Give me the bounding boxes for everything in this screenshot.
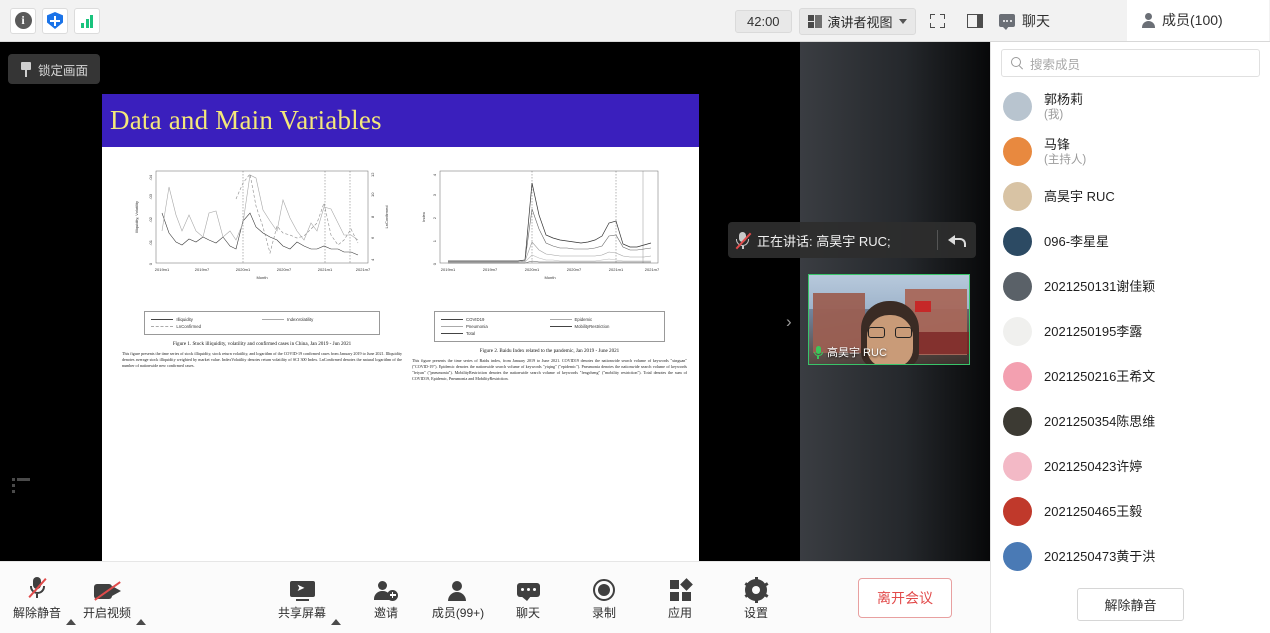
member-name: 高昊宇 RUC bbox=[1044, 189, 1115, 205]
svg-text:2020m7: 2020m7 bbox=[567, 267, 582, 272]
svg-text:Month: Month bbox=[256, 275, 267, 280]
chevron-down-icon bbox=[899, 19, 907, 24]
settings-gear-icon bbox=[745, 579, 767, 601]
avatar bbox=[1003, 92, 1032, 121]
svg-text:.01: .01 bbox=[148, 239, 153, 245]
member-name: 2021250195李露 bbox=[1044, 324, 1142, 340]
svg-text:2020m1: 2020m1 bbox=[525, 267, 540, 272]
slide-body: 0 .01 .02 .03 .04 Illiquidity, Volatilit… bbox=[102, 147, 699, 586]
list-item[interactable]: 096-李星星 bbox=[991, 219, 1270, 264]
list-item[interactable]: 郭杨莉 (我) bbox=[991, 84, 1270, 129]
chat-label: 聊天 bbox=[516, 604, 540, 621]
unmute-button[interactable]: 解除静音 bbox=[10, 575, 64, 621]
presentation-slide: Data and Main Variables 0 .01 .02 bbox=[102, 94, 699, 586]
tab-members[interactable]: 成员(100) bbox=[1127, 0, 1269, 41]
list-item[interactable]: 2021250354陈思维 bbox=[991, 399, 1270, 444]
list-item[interactable]: 2021250465王毅 bbox=[991, 489, 1270, 534]
invite-label: 邀请 bbox=[374, 604, 398, 621]
member-role: (我) bbox=[1044, 108, 1083, 122]
tab-chat-label: 聊天 bbox=[1022, 11, 1050, 31]
figure-2-note: This figure presents the time series of … bbox=[412, 358, 687, 382]
active-speaker-label: 正在讲话: 高昊宇 RUC; bbox=[757, 231, 891, 250]
side-panel-icon bbox=[967, 14, 983, 28]
pin-icon bbox=[20, 62, 32, 77]
members-list[interactable]: 郭杨莉 (我) 马锋 (主持人) 高昊宇 RUC 09 bbox=[991, 84, 1270, 575]
settings-button[interactable]: 设置 bbox=[729, 575, 783, 621]
list-item[interactable]: 2021250473黄于洪 bbox=[991, 534, 1270, 575]
record-icon bbox=[593, 579, 615, 601]
svg-text:4: 4 bbox=[370, 258, 375, 261]
legend-swatch bbox=[151, 319, 173, 320]
person-icon bbox=[1141, 13, 1155, 27]
legend-label: LnConfirmed bbox=[176, 323, 201, 330]
member-text: 2021250131谢佳颖 bbox=[1044, 279, 1155, 295]
security-button[interactable] bbox=[42, 8, 68, 34]
svg-text:2021m7: 2021m7 bbox=[645, 267, 660, 272]
member-name: 2021250473黄于洪 bbox=[1044, 549, 1155, 565]
member-name: 2021250465王毅 bbox=[1044, 504, 1142, 520]
bottom-toolbar: 解除静音 开启视频 ➤ 共享屏幕 邀请 成员(99+) bbox=[0, 561, 990, 633]
member-role: (主持人) bbox=[1044, 153, 1086, 167]
member-name: 郭杨莉 bbox=[1044, 92, 1083, 108]
fullscreen-button[interactable] bbox=[923, 8, 953, 34]
tab-chat[interactable]: 聊天 bbox=[985, 0, 1127, 41]
top-toolbar-center: 42:00 演讲者视图 bbox=[735, 0, 990, 42]
avatar bbox=[1003, 497, 1032, 526]
svg-text:2020m7: 2020m7 bbox=[277, 267, 292, 272]
member-text: 096-李星星 bbox=[1044, 234, 1109, 250]
lock-screen-button[interactable]: 锁定画面 bbox=[8, 54, 100, 84]
svg-text:Illiquidity, Volatility: Illiquidity, Volatility bbox=[134, 201, 139, 233]
meeting-window: i 42:00 演讲者视图 bbox=[0, 0, 1270, 633]
mic-muted-icon bbox=[734, 231, 751, 250]
svg-text:Index: Index bbox=[421, 212, 426, 222]
svg-text:2021m1: 2021m1 bbox=[609, 267, 624, 272]
member-text: 高昊宇 RUC bbox=[1044, 189, 1115, 205]
info-button[interactable]: i bbox=[10, 8, 36, 34]
slide-title-bar: Data and Main Variables bbox=[102, 94, 699, 147]
svg-text:2020m1: 2020m1 bbox=[236, 267, 251, 272]
legend-item: LnConfirmed bbox=[151, 323, 262, 330]
legend-swatch bbox=[441, 326, 463, 327]
svg-text:2019m7: 2019m7 bbox=[483, 267, 498, 272]
top-toolbar: i 42:00 演讲者视图 bbox=[0, 0, 1270, 42]
active-speaker-banner: 正在讲话: 高昊宇 RUC; bbox=[728, 222, 976, 258]
start-video-button[interactable]: 开启视频 bbox=[80, 575, 134, 621]
leave-meeting-button[interactable]: 离开会议 bbox=[858, 578, 952, 618]
legend-item: Epidemic bbox=[550, 316, 659, 323]
record-button[interactable]: 录制 bbox=[577, 575, 631, 621]
member-text: 2021250216王希文 bbox=[1044, 369, 1155, 385]
legend-label: Total bbox=[466, 330, 475, 337]
svg-text:2019m1: 2019m1 bbox=[441, 267, 456, 272]
unmute-all-button[interactable]: 解除静音 bbox=[1077, 588, 1183, 621]
search-members-box[interactable]: 搜索成员 bbox=[1001, 49, 1260, 77]
legend-item: Total bbox=[441, 330, 550, 337]
svg-text:0: 0 bbox=[432, 262, 437, 265]
svg-text:Month: Month bbox=[544, 275, 555, 280]
figure-2-legend: COVID19 Epidemic Pneumonia Mobility bbox=[434, 311, 665, 342]
member-name: 2021250216王希文 bbox=[1044, 369, 1155, 385]
view-mode-selector[interactable]: 演讲者视图 bbox=[799, 8, 916, 35]
legend-label: Epidemic bbox=[575, 316, 593, 323]
shared-screen-stage: 锁定画面 Data and Main Variables 0 .01 bbox=[0, 42, 800, 561]
figure-2: 0 1 2 3 4 Index 2019m1 2019m7 2020m1 202… bbox=[412, 165, 687, 382]
members-label: 成员(99+) bbox=[432, 604, 484, 621]
svg-text:.04: .04 bbox=[148, 174, 153, 180]
fullscreen-icon bbox=[930, 14, 945, 28]
legend-swatch bbox=[441, 333, 463, 334]
video-background-flag bbox=[915, 301, 931, 312]
legend-label: COVID19 bbox=[466, 316, 484, 323]
avatar bbox=[1003, 272, 1032, 301]
panel-tabs: 聊天 成员(100) bbox=[985, 0, 1269, 42]
figure-1-svg: 0 .01 .02 .03 .04 Illiquidity, Volatilit… bbox=[122, 165, 402, 305]
svg-text:2021m1: 2021m1 bbox=[318, 267, 333, 272]
speaker-video-tile[interactable]: 高昊宇 RUC bbox=[808, 274, 970, 365]
figure-1-caption: Figure 1. Stock illiquidity, volatility … bbox=[122, 341, 402, 347]
legend-swatch bbox=[441, 319, 463, 320]
info-icon: i bbox=[15, 12, 32, 29]
members-panel: 搜索成员 郭杨莉 (我) 马锋 (主持人) 高昊宇 RUC bbox=[990, 42, 1270, 633]
svg-text:2019m1: 2019m1 bbox=[155, 267, 170, 272]
member-text: 2021250473黄于洪 bbox=[1044, 549, 1155, 565]
svg-text:2: 2 bbox=[432, 216, 437, 219]
svg-text:12: 12 bbox=[370, 172, 375, 177]
member-name: 2021250423许婷 bbox=[1044, 459, 1142, 475]
next-slide-arrow[interactable]: › bbox=[786, 312, 792, 332]
search-icon bbox=[1011, 57, 1023, 69]
member-text: 2021250465王毅 bbox=[1044, 504, 1142, 520]
search-input-placeholder[interactable]: 搜索成员 bbox=[1030, 54, 1080, 73]
legend-swatch bbox=[151, 326, 173, 327]
legend-label: IndexVolatility bbox=[287, 316, 313, 323]
members-panel-footer: 解除静音 bbox=[991, 575, 1270, 633]
settings-label: 设置 bbox=[744, 604, 768, 621]
mic-muted-icon bbox=[27, 576, 47, 601]
divider bbox=[937, 230, 938, 250]
shield-icon bbox=[47, 12, 63, 29]
reply-icon[interactable] bbox=[948, 233, 966, 248]
legend-label: MobilityRestriction bbox=[575, 323, 610, 330]
legend-swatch bbox=[550, 326, 572, 327]
avatar bbox=[1003, 182, 1032, 211]
figure-1: 0 .01 .02 .03 .04 Illiquidity, Volatilit… bbox=[122, 165, 402, 369]
invite-icon bbox=[374, 581, 398, 601]
legend-item: Pneumonia bbox=[441, 323, 550, 330]
legend-label: Pneumonia bbox=[466, 323, 488, 330]
svg-text:.02: .02 bbox=[148, 216, 153, 222]
view-mode-label: 演讲者视图 bbox=[828, 12, 893, 31]
figure-2-chart: 0 1 2 3 4 Index 2019m1 2019m7 2020m1 202… bbox=[412, 165, 687, 305]
member-name: 马锋 bbox=[1044, 137, 1086, 153]
svg-text:0: 0 bbox=[148, 262, 153, 265]
avatar bbox=[1003, 452, 1032, 481]
apps-button[interactable]: 应用 bbox=[653, 575, 707, 621]
chat-button[interactable]: 聊天 bbox=[501, 575, 555, 621]
layout-icon bbox=[808, 15, 822, 28]
member-text: 马锋 (主持人) bbox=[1044, 137, 1086, 167]
figure-2-svg: 0 1 2 3 4 Index 2019m1 2019m7 2020m1 202… bbox=[412, 165, 687, 305]
video-tile-label-group: 高昊宇 RUC bbox=[813, 344, 887, 360]
list-item[interactable]: 马锋 (主持人) bbox=[991, 129, 1270, 174]
figure-1-chart: 0 .01 .02 .03 .04 Illiquidity, Volatilit… bbox=[122, 165, 402, 305]
figure-2-caption: Figure 2. Baidu Index related to the pan… bbox=[412, 348, 687, 354]
audio-options-chevron-icon[interactable] bbox=[66, 619, 76, 625]
svg-text:6: 6 bbox=[370, 236, 375, 239]
avatar bbox=[1003, 137, 1032, 166]
chat-icon bbox=[517, 583, 540, 601]
avatar bbox=[1003, 317, 1032, 346]
svg-text:1: 1 bbox=[432, 239, 437, 242]
start-video-label: 开启视频 bbox=[83, 604, 131, 621]
lock-screen-label: 锁定画面 bbox=[38, 60, 88, 79]
top-toolbar-left-icons: i bbox=[0, 8, 100, 34]
network-status-button[interactable] bbox=[74, 8, 100, 34]
legend-item: MobilityRestriction bbox=[550, 323, 659, 330]
avatar bbox=[1003, 542, 1032, 571]
share-screen-label: 共享屏幕 bbox=[278, 604, 326, 621]
video-thumbnail-panel: 正在讲话: 高昊宇 RUC; 高昊宇 RUC bbox=[800, 42, 990, 561]
slide-title: Data and Main Variables bbox=[110, 105, 382, 136]
legend-swatch bbox=[550, 319, 572, 320]
member-name: 096-李星星 bbox=[1044, 234, 1109, 250]
record-label: 录制 bbox=[592, 604, 616, 621]
member-text: 郭杨莉 (我) bbox=[1044, 92, 1083, 122]
legend-item: Illiquidity bbox=[151, 316, 262, 323]
svg-text:.03: .03 bbox=[148, 193, 153, 199]
list-item[interactable]: 2021250216王希文 bbox=[991, 354, 1270, 399]
svg-text:4: 4 bbox=[432, 173, 437, 176]
network-signal-icon bbox=[81, 14, 93, 28]
apps-label: 应用 bbox=[668, 604, 692, 621]
list-item[interactable]: 2021250195李露 bbox=[991, 309, 1270, 354]
invite-button[interactable]: 邀请 bbox=[359, 575, 413, 621]
svg-text:8: 8 bbox=[370, 215, 375, 218]
member-text: 2021250354陈思维 bbox=[1044, 414, 1155, 430]
avatar bbox=[1003, 227, 1032, 256]
svg-text:LnConfirmed: LnConfirmed bbox=[384, 206, 389, 229]
members-icon bbox=[447, 581, 469, 601]
share-options-chevron-icon[interactable] bbox=[331, 619, 341, 625]
list-item[interactable]: 2021250423许婷 bbox=[991, 444, 1270, 489]
unmute-label: 解除静音 bbox=[13, 604, 61, 621]
avatar bbox=[1003, 362, 1032, 391]
figure-1-note: This figure presents the time series of … bbox=[122, 351, 402, 369]
video-options-chevron-icon[interactable] bbox=[136, 619, 146, 625]
member-name: 2021250354陈思维 bbox=[1044, 414, 1155, 430]
meeting-timer: 42:00 bbox=[735, 10, 792, 33]
share-screen-button[interactable]: ➤ 共享屏幕 bbox=[275, 575, 329, 621]
apps-icon bbox=[670, 580, 691, 601]
list-item[interactable]: 2021250131谢佳颖 bbox=[991, 264, 1270, 309]
avatar bbox=[1003, 407, 1032, 436]
video-person-glasses bbox=[868, 327, 912, 338]
video-tile-name: 高昊宇 RUC bbox=[827, 344, 887, 360]
member-text: 2021250423许婷 bbox=[1044, 459, 1142, 475]
camera-off-icon bbox=[94, 582, 121, 601]
share-screen-icon: ➤ bbox=[290, 581, 315, 601]
members-button[interactable]: 成员(99+) bbox=[431, 575, 485, 621]
svg-text:10: 10 bbox=[370, 192, 375, 197]
legend-item: IndexVolatility bbox=[262, 316, 373, 323]
figure-1-legend: Illiquidity IndexVolatility LnConfirmed bbox=[144, 311, 379, 335]
member-name: 2021250131谢佳颖 bbox=[1044, 279, 1155, 295]
list-item[interactable]: 高昊宇 RUC bbox=[991, 174, 1270, 219]
member-text: 2021250195李露 bbox=[1044, 324, 1142, 340]
svg-text:2021m7: 2021m7 bbox=[356, 267, 371, 272]
list-icon[interactable] bbox=[12, 478, 30, 493]
legend-item: COVID19 bbox=[441, 316, 550, 323]
svg-text:3: 3 bbox=[432, 193, 437, 196]
svg-text:2019m7: 2019m7 bbox=[195, 267, 210, 272]
chat-icon bbox=[999, 14, 1015, 27]
legend-swatch bbox=[262, 319, 284, 320]
mic-on-icon bbox=[813, 346, 823, 359]
tab-members-label: 成员(100) bbox=[1162, 10, 1223, 30]
legend-label: Illiquidity bbox=[176, 316, 192, 323]
